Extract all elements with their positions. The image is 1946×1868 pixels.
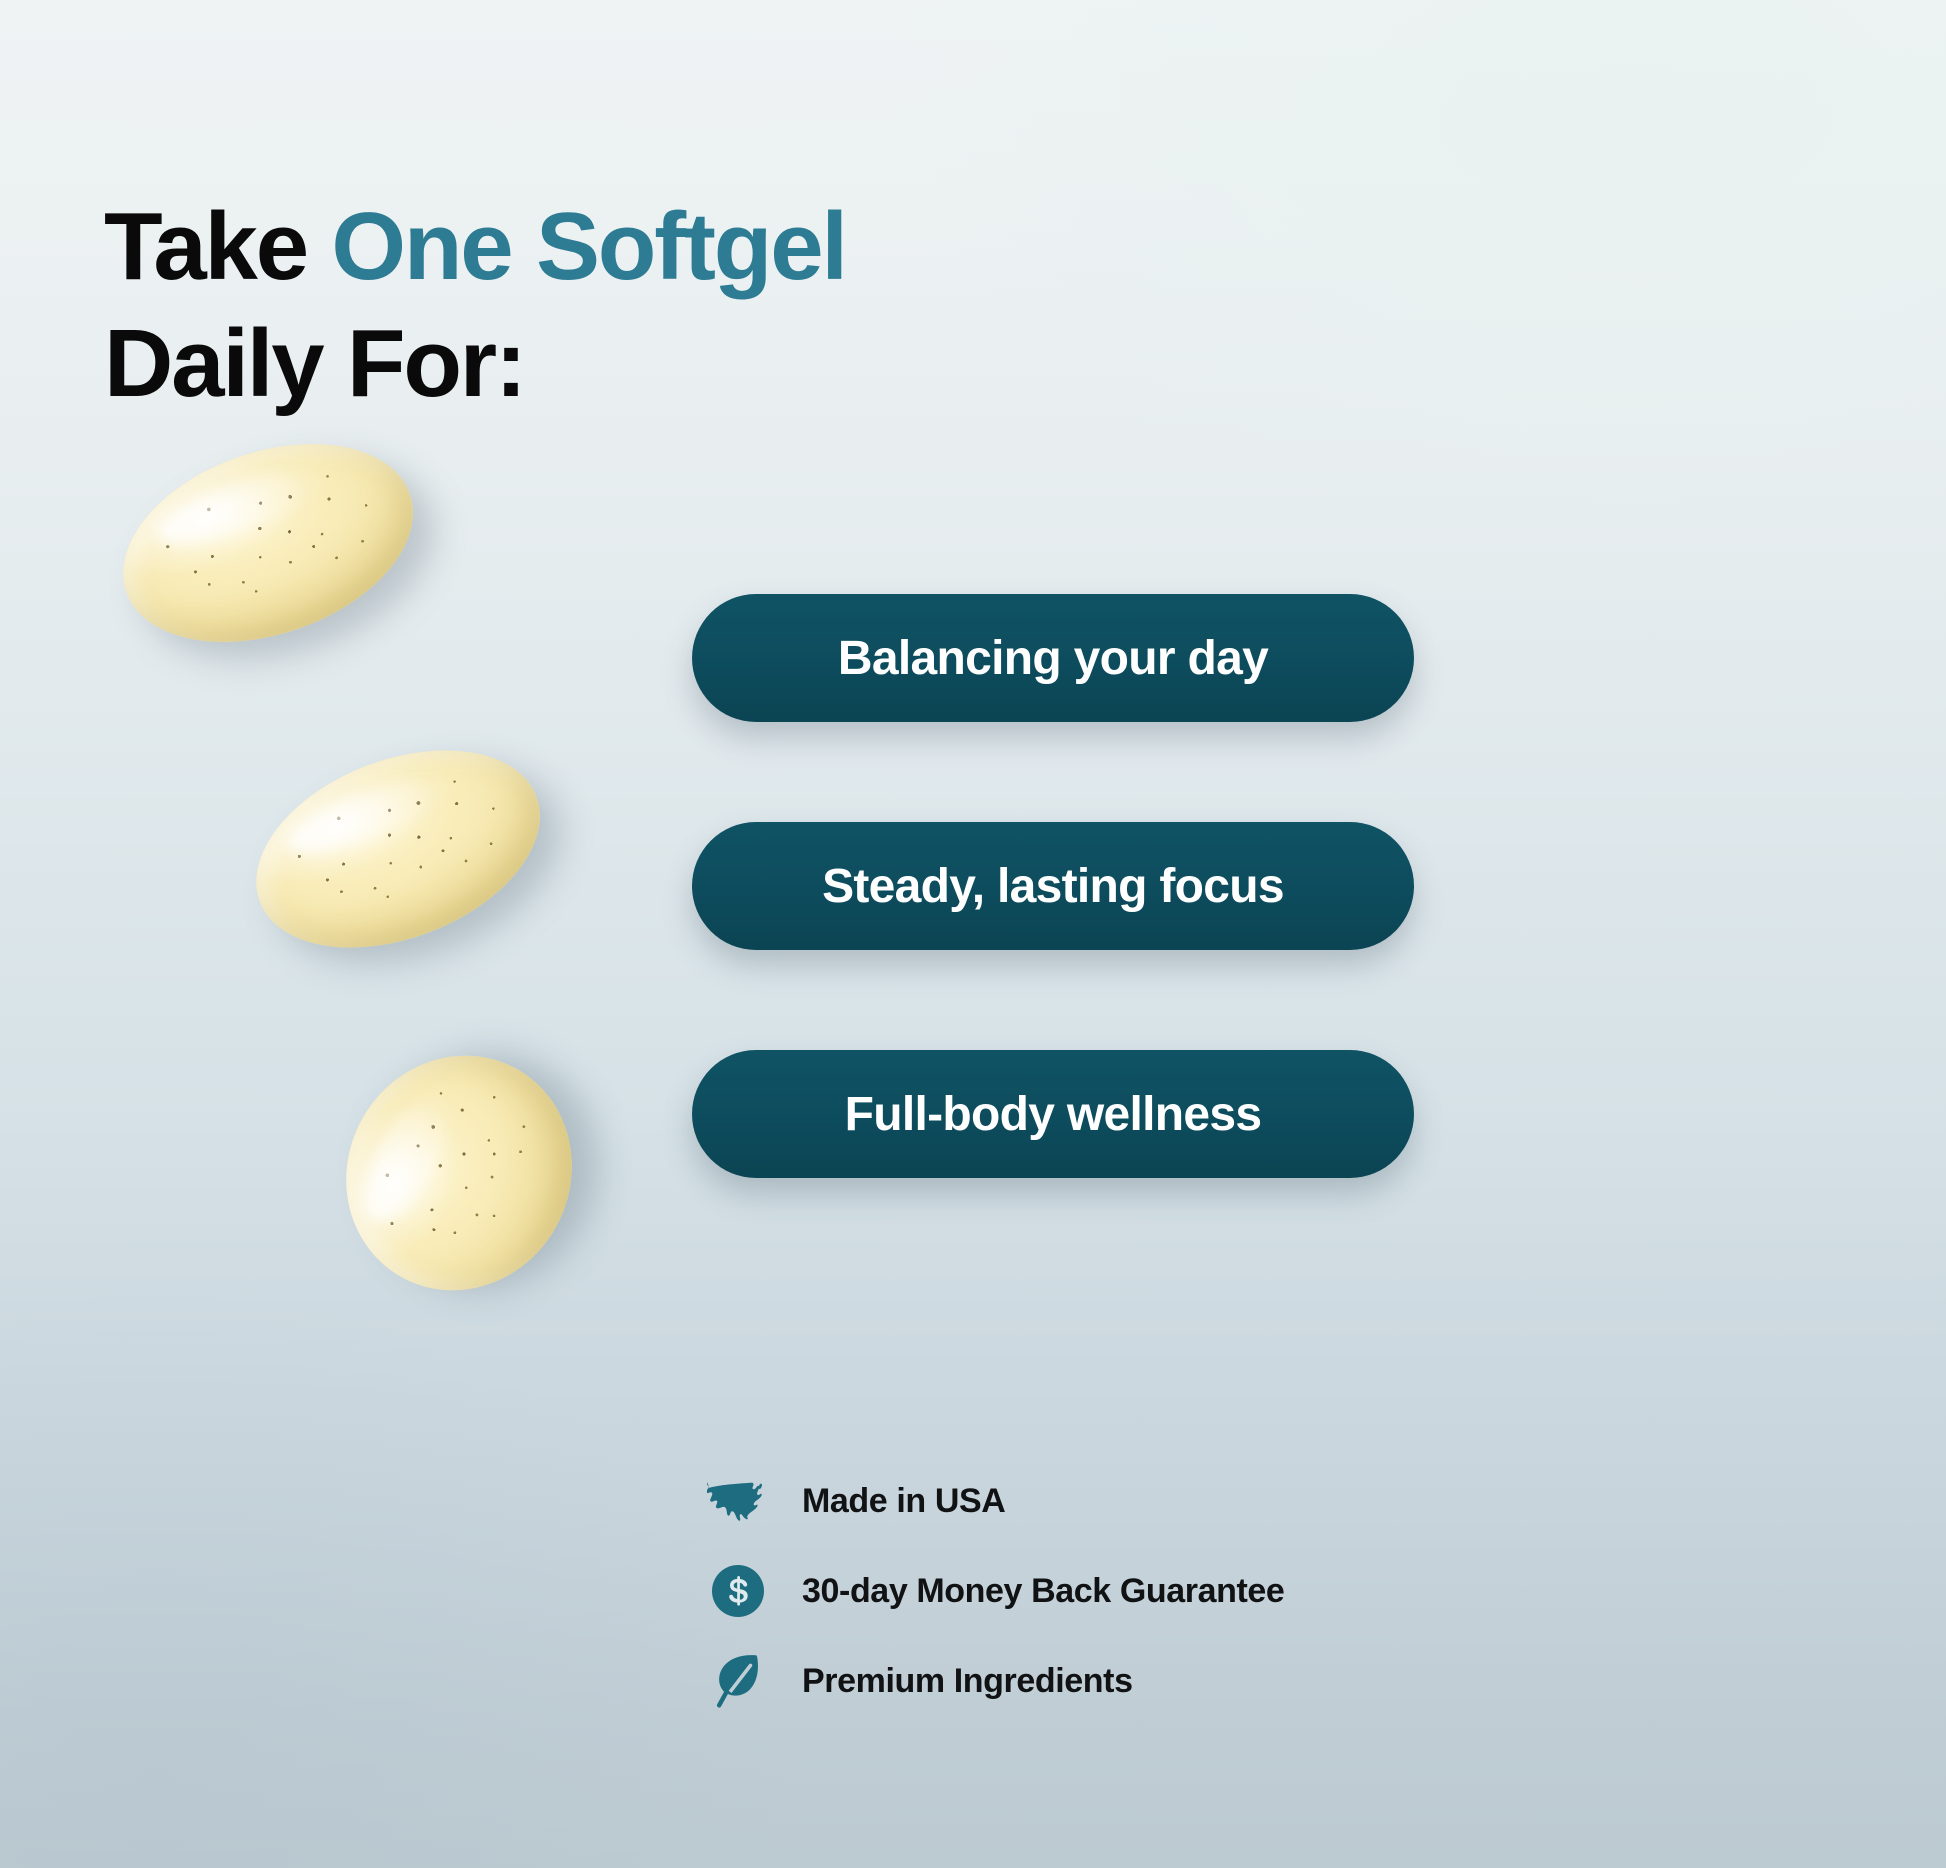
benefit-pill-label: Full-body wellness — [845, 1087, 1262, 1142]
benefit-pill-steady-lasting-focus[interactable]: Steady, lasting focus — [692, 822, 1414, 950]
headline-line-2: Daily For: — [104, 305, 846, 422]
softgel-speckles — [228, 713, 568, 985]
benefit-pill-balancing-your-day[interactable]: Balancing your day — [692, 594, 1414, 722]
product-benefits-poster: Take One Softgel Daily For: Balancing yo… — [0, 0, 1946, 1868]
softgel-capsule-1 — [97, 408, 440, 678]
softgel-capsule-2 — [228, 713, 568, 985]
trust-badge-label: Premium Ingredients — [802, 1662, 1133, 1701]
benefit-pill-full-body-wellness[interactable]: Full-body wellness — [692, 1050, 1414, 1178]
softgel-speckles — [305, 1016, 613, 1330]
dollar-coin-icon — [700, 1563, 776, 1619]
benefit-pill-list: Balancing your day Steady, lasting focus… — [692, 594, 1414, 1178]
trust-badge-made-in-usa: Made in USA — [700, 1456, 1284, 1546]
headline-plain-text: Take — [104, 193, 331, 300]
trust-badge-list: Made in USA 30-day Money Back Guarantee … — [700, 1456, 1284, 1726]
headline-line-1: Take One Softgel — [104, 188, 846, 305]
trust-badge-premium-ingredients: Premium Ingredients — [700, 1636, 1284, 1726]
usa-map-icon — [700, 1481, 776, 1521]
softgel-capsule-3 — [305, 1016, 613, 1330]
headline-accent-text: One Softgel — [331, 193, 846, 300]
softgel-speckles — [97, 408, 440, 678]
trust-badge-label: Made in USA — [802, 1482, 1005, 1521]
benefit-pill-label: Balancing your day — [838, 631, 1268, 686]
trust-badge-label: 30-day Money Back Guarantee — [802, 1572, 1284, 1611]
leaf-icon — [700, 1652, 776, 1710]
benefit-pill-label: Steady, lasting focus — [822, 859, 1284, 914]
page-title: Take One Softgel Daily For: — [104, 188, 846, 422]
trust-badge-money-back-guarantee: 30-day Money Back Guarantee — [700, 1546, 1284, 1636]
